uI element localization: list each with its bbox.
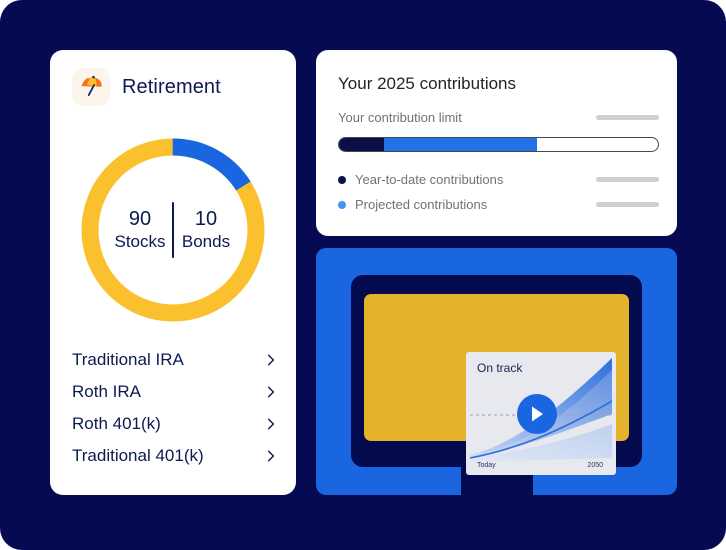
- contribution-limit-value-placeholder: [596, 115, 659, 120]
- bonds-label: Bonds: [174, 232, 238, 252]
- contributions-title: Your 2025 contributions: [338, 74, 516, 94]
- app-root: Retirement 90 Stocks 10 Bonds: [0, 0, 726, 550]
- legend-dot-projected: [338, 201, 346, 209]
- play-icon[interactable]: [517, 394, 557, 434]
- contributions-legend: Year-to-date contributions Projected con…: [338, 167, 659, 217]
- axis-label-start: Today: [477, 462, 496, 469]
- progress-segment-projected: [384, 138, 537, 151]
- contribution-limit-row: Your contribution limit: [338, 110, 659, 125]
- video-panel[interactable]: On track Today 2050: [316, 248, 677, 495]
- contributions-card: Your 2025 contributions Your contributio…: [316, 50, 677, 236]
- allocation-bonds: 10 Bonds: [174, 208, 238, 252]
- page-title: Retirement: [122, 76, 221, 99]
- projection-chart: On track Today 2050: [466, 352, 616, 475]
- chevron-right-icon: [264, 353, 278, 367]
- legend-dot-ytd: [338, 176, 346, 184]
- legend-item-projected: Projected contributions: [338, 192, 659, 217]
- legend-label-ytd: Year-to-date contributions: [355, 172, 503, 187]
- list-item[interactable]: Traditional 401(k): [72, 440, 278, 472]
- legend-label-projected: Projected contributions: [355, 197, 487, 212]
- contribution-progress-bar: [338, 137, 659, 152]
- bonds-value: 10: [174, 208, 238, 232]
- chevron-right-icon: [264, 385, 278, 399]
- contribution-limit-label: Your contribution limit: [338, 110, 462, 125]
- stocks-label: Stocks: [108, 232, 172, 252]
- progress-segment-ytd: [339, 138, 384, 151]
- chart-title: On track: [477, 361, 522, 375]
- account-label: Roth IRA: [72, 382, 141, 402]
- list-item[interactable]: Traditional IRA: [72, 344, 278, 376]
- legend-item-ytd: Year-to-date contributions: [338, 167, 659, 192]
- monitor-screen: On track Today 2050: [364, 294, 629, 441]
- account-label: Roth 401(k): [72, 414, 161, 434]
- legend-value-placeholder-ytd: [596, 177, 659, 182]
- account-label: Traditional IRA: [72, 350, 184, 370]
- account-label: Traditional 401(k): [72, 446, 204, 466]
- chevron-right-icon: [264, 417, 278, 431]
- retirement-card: Retirement 90 Stocks 10 Bonds: [50, 50, 296, 495]
- card-header: Retirement: [72, 68, 221, 106]
- umbrella-icon: [72, 68, 110, 106]
- allocation-center-labels: 90 Stocks 10 Bonds: [73, 130, 273, 330]
- chevron-right-icon: [264, 449, 278, 463]
- allocation-donut-chart: 90 Stocks 10 Bonds: [73, 130, 273, 330]
- list-item[interactable]: Roth IRA: [72, 376, 278, 408]
- stocks-value: 90: [108, 208, 172, 232]
- axis-label-end: 2050: [587, 462, 603, 469]
- allocation-stocks: 90 Stocks: [108, 208, 172, 252]
- account-list: Traditional IRA Roth IRA Roth 401(k) Tra…: [72, 344, 278, 472]
- list-item[interactable]: Roth 401(k): [72, 408, 278, 440]
- legend-value-placeholder-projected: [596, 202, 659, 207]
